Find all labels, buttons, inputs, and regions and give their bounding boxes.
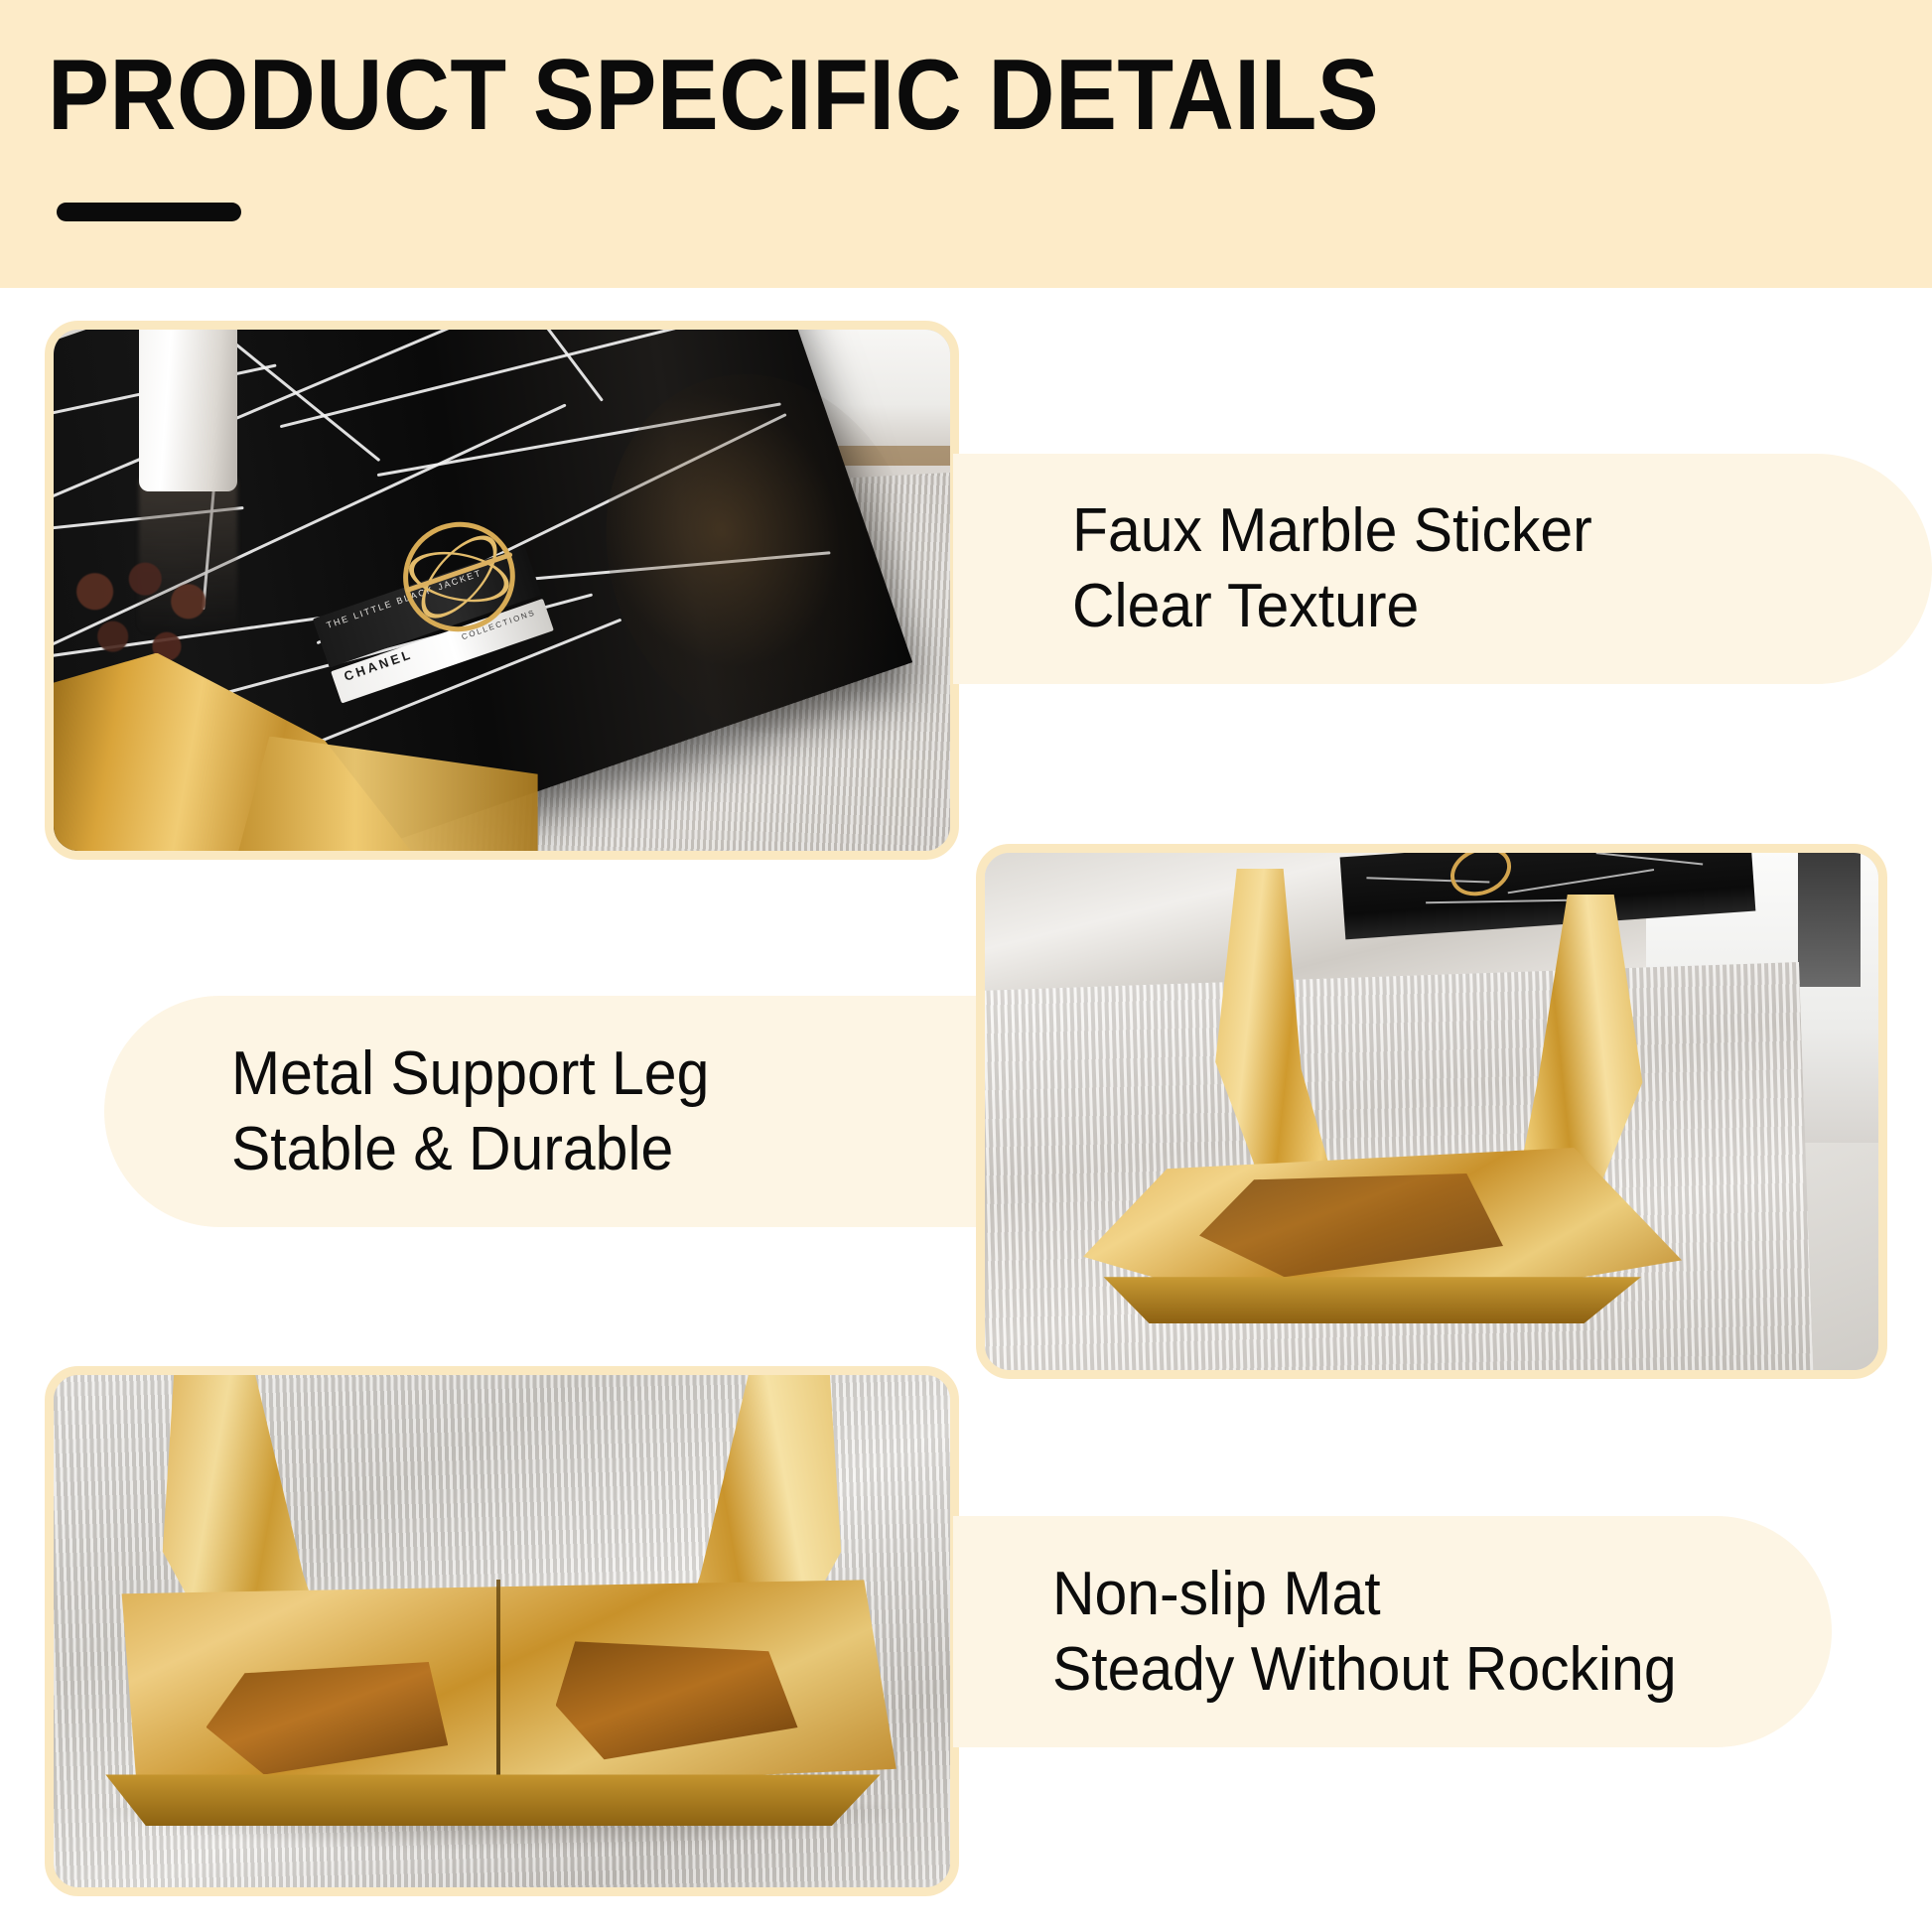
feature-2-line-1: Metal Support Leg	[231, 1036, 945, 1112]
photo-2-inner	[985, 853, 1878, 1370]
infographic-page: PRODUCT SPECIFIC DETAILS	[0, 0, 1932, 1932]
feature-3-line-1: Non-slip Mat	[1052, 1557, 1793, 1632]
feature-photo-metal-support-leg	[976, 844, 1887, 1379]
feature-photo-faux-marble-sticker: THE LITTLE BLACK JACKET CHANEL COLLECTIO…	[45, 321, 959, 860]
feature-label-faux-marble-sticker: Faux Marble Sticker Clear Texture	[953, 454, 1932, 684]
photo-1-inner: THE LITTLE BLACK JACKET CHANEL COLLECTIO…	[54, 330, 950, 851]
page-title: PRODUCT SPECIFIC DETAILS	[48, 46, 1379, 146]
feature-label-metal-support-leg: Metal Support Leg Stable & Durable	[104, 996, 983, 1227]
photo-1-vase	[139, 330, 237, 491]
photo-2-base-side-edge	[1092, 1277, 1664, 1323]
feature-1-line-1: Faux Marble Sticker	[1072, 493, 1889, 569]
feature-2-line-2: Stable & Durable	[231, 1112, 945, 1187]
photo-2-dark-panel	[1798, 853, 1861, 987]
photo-3-base-side-edge	[89, 1774, 897, 1826]
photo-3-inner	[54, 1375, 950, 1887]
title-underline-rule	[57, 203, 241, 221]
feature-photo-non-slip-mat	[45, 1366, 959, 1896]
feature-label-non-slip-mat: Non-slip Mat Steady Without Rocking	[953, 1516, 1832, 1747]
feature-1-line-2: Clear Texture	[1072, 569, 1889, 644]
feature-3-line-2: Steady Without Rocking	[1052, 1632, 1793, 1708]
